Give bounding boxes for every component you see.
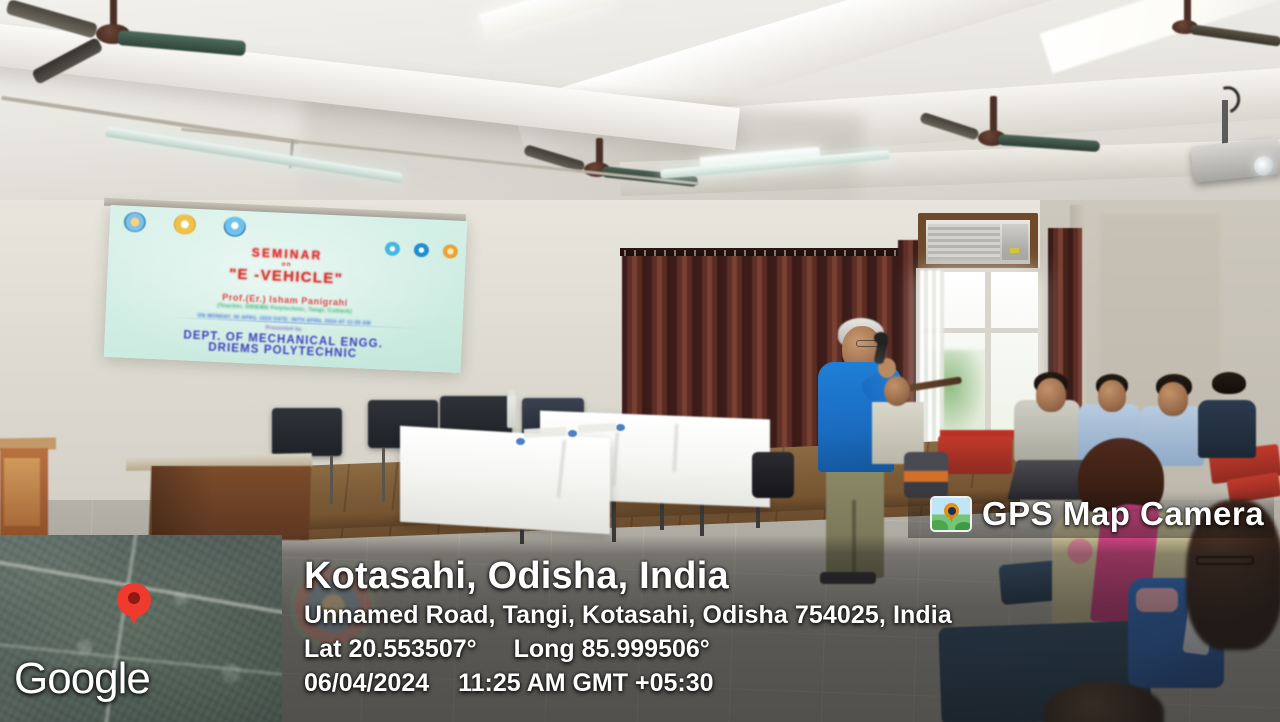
conference-chair: [272, 408, 342, 456]
gps-map-camera-badge: GPS Map Camera: [908, 490, 1274, 538]
capture-datetime: 06/04/2024 11:25 AM GMT +05:30: [304, 669, 1280, 698]
gps-text-block: Kotasahi, Odisha, India Unnamed Road, Ta…: [282, 535, 1280, 722]
map-pin-icon: [944, 503, 959, 518]
table-marker: [516, 438, 525, 445]
google-watermark: Google: [14, 654, 150, 704]
white-cloth-table: [400, 426, 610, 534]
projection-screen: SEMINAR on "E -VEHICLE" Prof.(Er.) Isham…: [104, 205, 468, 373]
location-coordinates: Lat 20.553507° Long 85.999506°: [304, 635, 1280, 664]
audience-hair: [1212, 372, 1246, 394]
capture-time: 11:25 AM GMT +05:30: [458, 669, 713, 697]
window-mullion: [985, 272, 991, 448]
ac-indicator-light: [1010, 248, 1019, 253]
ac-control-panel: [1002, 224, 1028, 260]
icon-hill: [932, 520, 948, 530]
map-pin-hole: [128, 592, 140, 604]
red-chair: [938, 436, 1012, 474]
photo-canvas: SEMINAR on "E -VEHICLE" Prof.(Er.) Isham…: [0, 0, 1280, 722]
gps-info-bar: Google Kotasahi, Odisha, India Unnamed R…: [0, 535, 1280, 722]
institution-logo-icon: [223, 216, 246, 237]
icon-hill: [955, 522, 970, 530]
seated-person-head: [884, 376, 910, 406]
latitude-value: Lat 20.553507°: [304, 635, 477, 663]
projector-mount: [1222, 100, 1228, 144]
audience-head: [1098, 380, 1126, 412]
curtain-rings: [624, 250, 920, 256]
table-marker: [616, 424, 625, 431]
map-pin-icon: [117, 583, 151, 617]
bag: [752, 452, 794, 498]
desk-shadow: [152, 466, 212, 540]
location-address: Unnamed Road, Tangi, Kotasahi, Odisha 75…: [304, 601, 1280, 630]
ac-grill: [928, 224, 1000, 260]
map-thumbnail[interactable]: Google: [0, 535, 282, 722]
gps-map-camera-title: GPS Map Camera: [982, 495, 1264, 533]
water-bottle: [507, 394, 516, 428]
capture-date: 06/04/2024: [304, 669, 429, 697]
institution-logo-icon: [123, 212, 146, 233]
audience-head: [1036, 378, 1066, 412]
wooden-podium-panel: [4, 458, 40, 526]
microphone-head: [874, 332, 888, 344]
chair-leg: [382, 448, 385, 502]
location-title: Kotasahi, Odisha, India: [304, 557, 1280, 596]
table-marker: [568, 430, 577, 437]
projector-lens-icon: [1254, 156, 1274, 176]
bottle-cap: [508, 390, 515, 396]
institution-logo-icon: [173, 214, 196, 235]
longitude-value: Long 85.999506°: [514, 635, 710, 663]
chair-leg: [330, 456, 333, 504]
gps-map-camera-icon: [932, 498, 970, 530]
audience-torso: [1198, 400, 1256, 458]
audience-head: [1158, 382, 1188, 416]
